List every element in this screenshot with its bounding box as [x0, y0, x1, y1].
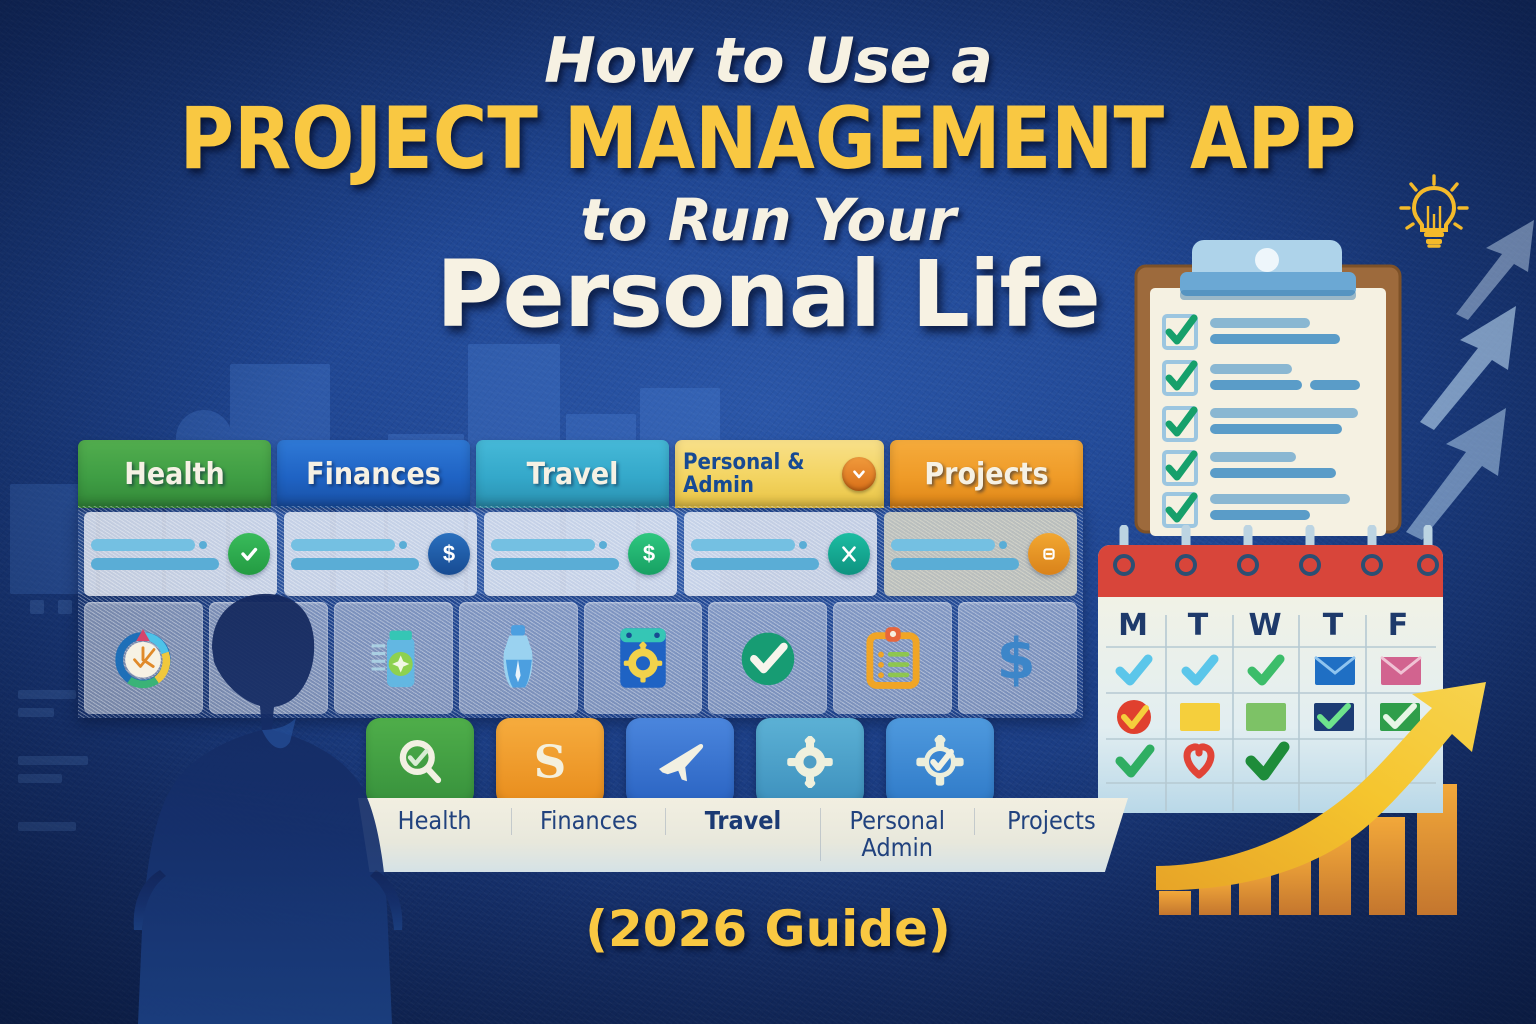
tab-strip: Health Finances Travel Personal & Admin …	[78, 440, 1083, 508]
check-circle-icon[interactable]	[708, 602, 827, 714]
personal-card[interactable]	[684, 512, 877, 596]
nav-icon-travel[interactable]	[626, 718, 734, 806]
tab-projects[interactable]: Projects	[890, 440, 1083, 508]
data-block	[18, 756, 88, 765]
data-block	[18, 774, 62, 783]
nav-label-finances[interactable]: Finances	[511, 808, 665, 835]
svg-text:T: T	[1188, 608, 1209, 643]
tab-health-label: Health	[124, 457, 224, 492]
data-block	[58, 600, 72, 614]
tab-finances-label: Finances	[306, 457, 441, 492]
svg-text:T: T	[1323, 608, 1344, 643]
tab-travel-label: Travel	[527, 457, 619, 492]
nav-icon-projects[interactable]	[886, 718, 994, 806]
tab-finances[interactable]: Finances	[277, 440, 470, 508]
svg-text:$: $	[996, 627, 1035, 692]
page-title: How to Use a PROJECT MANAGEMENT APP to R…	[0, 30, 1536, 341]
data-block	[18, 690, 76, 699]
svg-text:S: S	[534, 735, 567, 788]
subtitle: (2026 Guide)	[0, 900, 1536, 958]
chevron-down-icon[interactable]	[842, 457, 876, 491]
card-placeholder-lines	[891, 539, 1019, 570]
bottom-nav-icons: S	[358, 718, 1128, 806]
card-placeholder-lines	[291, 539, 419, 570]
title-line-4: Personal Life	[0, 249, 1536, 341]
travel-card[interactable]: $	[484, 512, 677, 596]
scissors-icon	[828, 533, 870, 575]
check-icon	[228, 533, 270, 575]
nav-label-finances-text: Finances	[540, 806, 638, 835]
water-bottle-icon[interactable]	[459, 602, 578, 714]
trend-arrow-icon	[1150, 680, 1510, 920]
data-block	[30, 600, 44, 614]
svg-text:W: W	[1248, 608, 1281, 643]
tab-travel[interactable]: Travel	[476, 440, 669, 508]
title-line-2: PROJECT MANAGEMENT APP	[31, 94, 1506, 184]
data-block	[18, 822, 76, 831]
card-placeholder-lines	[691, 539, 819, 570]
nav-label-travel-text: Travel	[705, 806, 782, 835]
tab-personal-admin-label: Personal & Admin	[683, 451, 832, 497]
clipboard-list-icon[interactable]	[833, 602, 952, 714]
nav-label-personal-text: Personal	[849, 806, 945, 835]
tab-projects-label: Projects	[924, 457, 1048, 492]
dollar-icon: $	[628, 533, 670, 575]
card-placeholder-lines	[91, 539, 219, 570]
dollar-sign-icon[interactable]: $	[958, 602, 1077, 714]
dollar-icon: $	[428, 533, 470, 575]
tab-personal-admin[interactable]: Personal & Admin	[675, 440, 884, 508]
svg-text:F: F	[1388, 608, 1409, 643]
card-placeholder-lines	[491, 539, 619, 570]
nav-label-personal-admin[interactable]: Personal Admin	[820, 808, 974, 861]
projects-card[interactable]	[884, 512, 1077, 596]
title-line-1: How to Use a	[0, 30, 1536, 92]
nav-label-admin-text: Admin	[861, 833, 933, 862]
data-block	[18, 708, 54, 717]
nav-label-projects[interactable]: Projects	[974, 808, 1128, 835]
coin-icon	[1028, 533, 1070, 575]
nav-icon-finances[interactable]: S	[496, 718, 604, 806]
nav-label-projects-text: Projects	[1007, 806, 1096, 835]
nav-label-travel[interactable]: Travel	[665, 808, 819, 835]
svg-text:M: M	[1118, 608, 1148, 643]
tab-health[interactable]: Health	[78, 440, 271, 508]
bottom-nav-labels: Health Finances Travel Personal Admin Pr…	[358, 798, 1128, 872]
nav-icon-personal-admin[interactable]	[756, 718, 864, 806]
phone-gear-icon[interactable]	[584, 602, 703, 714]
bottom-navigation: S	[358, 718, 1128, 872]
